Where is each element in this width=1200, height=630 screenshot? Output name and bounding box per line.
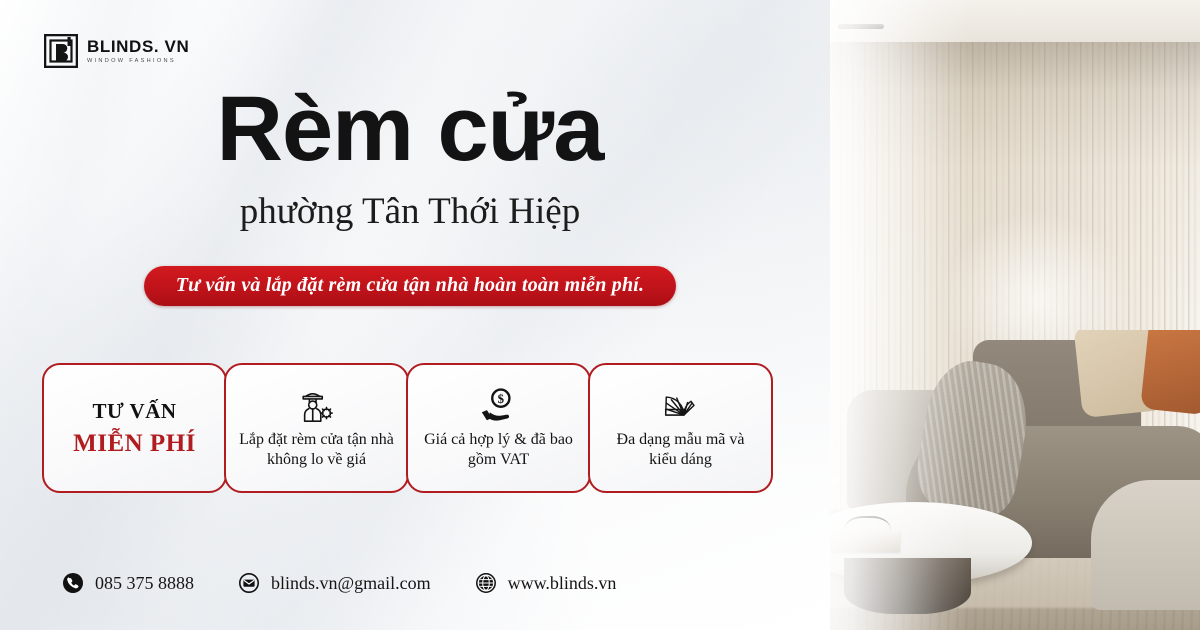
feature-card-fair-price-vat[interactable]: $ Giá cả hợp lý & đã bao gồm VAT [406,363,591,493]
globe-icon [475,572,497,594]
promo-banner-image: BLINDS. VN WINDOW FASHIONS Rèm cửa phườn… [0,0,1200,630]
feature-card-line-1: TƯ VẤN [92,399,176,424]
living-room-furniture [780,330,1200,630]
sofa-armrest [1091,480,1200,610]
contact-email[interactable]: blinds.vn@gmail.com [238,572,431,594]
headline-block: Rèm cửa phường Tân Thới Hiệp [0,84,820,233]
blinds-logo-mark-icon [44,34,78,68]
feature-card-text: Lắp đặt rèm cửa tận nhà không lo về giá [238,430,395,470]
eyeglasses [844,516,891,530]
contact-website[interactable]: www.blinds.vn [475,572,617,594]
page-title: Rèm cửa [0,84,820,174]
svg-text:$: $ [497,392,504,406]
phone-number: 085 375 8888 [95,573,194,594]
fabric-swatch-fan-icon [659,386,703,424]
brand-logo[interactable]: BLINDS. VN WINDOW FASHIONS [44,34,189,68]
feature-card-text: Đa dạng mẫu mã và kiểu dáng [602,430,759,470]
logo-name: BLINDS. VN [87,37,189,56]
website-url: www.blinds.vn [508,573,617,594]
feature-card-varied-designs[interactable]: Đa dạng mẫu mã và kiểu dáng [588,363,773,493]
envelope-icon [238,572,260,594]
round-coffee-table [797,502,1032,614]
feature-card-home-installation[interactable]: Lắp đặt rèm cửa tận nhà không lo về giá [224,363,409,493]
email-address: blinds.vn@gmail.com [271,573,431,594]
rust-cushion [1141,330,1200,415]
table-base [844,558,971,614]
curtain-rail [838,24,884,29]
logo-wordmark: BLINDS. VN WINDOW FASHIONS [87,38,189,65]
installer-worker-icon [297,386,337,424]
promo-pill: Tư vấn và lắp đặt rèm cửa tận nhà hoàn t… [144,266,677,306]
feature-card-list: TƯ VẤN MIỄN PHÍ Lắp đặt rèm cửa tận nhà … [42,363,770,493]
promo-pill-wrapper: Tư vấn và lắp đặt rèm cửa tận nhà hoàn t… [0,266,820,306]
living-room-curtain-photo [780,0,1200,630]
promo-pill-text: Tư vấn và lắp đặt rèm cửa tận nhà hoàn t… [176,274,645,296]
feature-card-free-consultation[interactable]: TƯ VẤN MIỄN PHÍ [42,363,227,493]
stacked-books [830,530,901,552]
phone-icon [62,572,84,594]
page-subtitle: phường Tân Thới Hiệp [0,190,820,233]
contact-bar: 085 375 8888 blinds.vn@gmail.com [62,572,616,594]
hand-holding-coin-icon: $ [478,386,520,424]
ceiling [780,0,1200,42]
feature-card-line-2: MIỄN PHÍ [73,430,196,458]
feature-card-text: Giá cả hợp lý & đã bao gồm VAT [420,430,577,470]
logo-tagline: WINDOW FASHIONS [87,59,189,65]
contact-phone[interactable]: 085 375 8888 [62,572,194,594]
